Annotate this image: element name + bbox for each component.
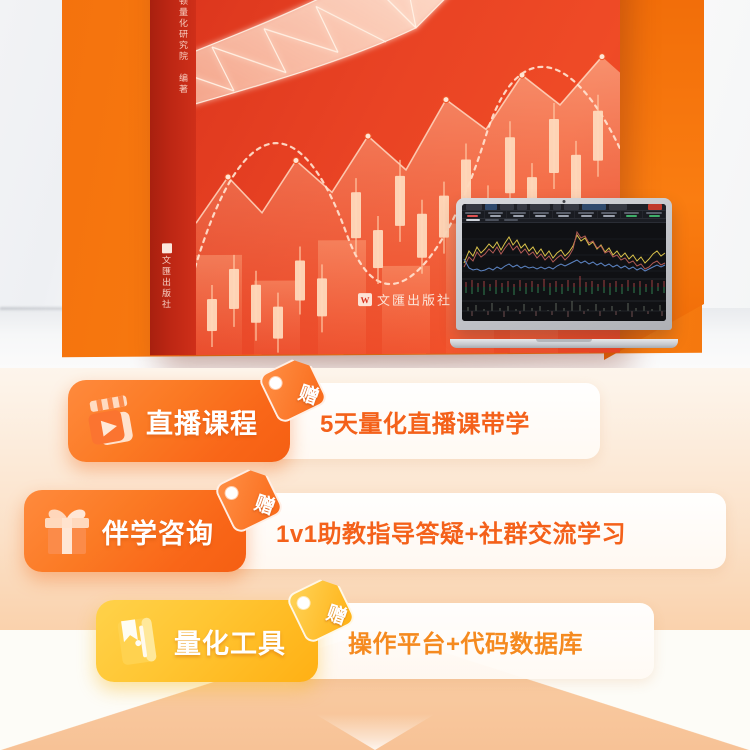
- laptop-screen: [462, 204, 666, 321]
- price-series-chart: [462, 223, 666, 321]
- publisher-mark-icon: W: [358, 293, 372, 306]
- stat-cell: [643, 211, 666, 218]
- benefit-pill-label: 伴学咨询: [102, 512, 214, 551]
- terminal-tab[interactable]: [504, 219, 518, 221]
- benefit-description-text: 操作平台+代码数据库: [348, 624, 583, 659]
- terminal-stats-bar: [462, 211, 666, 219]
- toolbar-chip[interactable]: [500, 204, 514, 210]
- publisher-logo: W 文匯出版社: [358, 290, 452, 310]
- stat-cell: [462, 211, 485, 218]
- book-spine-publisher: 文匯出版社: [160, 255, 173, 310]
- toolbar-chip[interactable]: [466, 204, 482, 210]
- terminal-chart-area: [462, 223, 666, 321]
- benefit-pill-label: 量化工具: [174, 622, 286, 661]
- stat-cell: [553, 211, 576, 218]
- product-hero: 高顿量化研究院 编著 文匯出版社 高顿量化研究院 编著 W 文匯出版社: [0, 0, 750, 368]
- benefit-pill-label: 直播课程: [146, 402, 258, 441]
- toolbar-chip[interactable]: [564, 204, 579, 210]
- book-spine-title: 高顿量化研究院 编著: [156, 0, 190, 95]
- stat-cell: [621, 211, 644, 218]
- toolbar-chip[interactable]: [485, 204, 497, 210]
- terminal-tab[interactable]: [485, 219, 499, 221]
- bottom-notch-decoration: [315, 714, 435, 750]
- benefit-description-text: 5天量化直播课带学: [320, 404, 530, 439]
- benefit-description-text: 1v1助教指导答疑+社群交流学习: [276, 514, 626, 549]
- toolbar-chip[interactable]: [530, 204, 550, 210]
- toolbar-search-field[interactable]: [582, 204, 606, 210]
- toolbar-chip[interactable]: [553, 204, 561, 210]
- toolbar-chip[interactable]: [517, 204, 527, 210]
- terminal-tab[interactable]: [466, 219, 480, 221]
- toolbar-chip[interactable]: [609, 204, 627, 210]
- stat-cell: [485, 211, 508, 218]
- product-promo-banner: 高顿量化研究院 编著 文匯出版社 高顿量化研究院 编著 W 文匯出版社: [0, 0, 750, 750]
- stat-cell: [575, 211, 598, 218]
- publisher-mark-icon: [162, 243, 172, 253]
- benefit-pill-study-support[interactable]: 伴学咨询 赠: [24, 490, 246, 572]
- benefit-description-card: 1v1助教指导答疑+社群交流学习: [220, 493, 726, 569]
- stat-cell: [530, 211, 553, 218]
- benefits-list: 直播课程 赠 5天量化直播课带学: [0, 372, 750, 712]
- benefit-pill-live-course[interactable]: 直播课程 赠: [68, 380, 290, 462]
- publisher-name: 文匯出版社: [377, 290, 452, 309]
- benefit-row-study-support[interactable]: 伴学咨询 赠 1v1助教指导答疑+社群交流学习: [0, 490, 750, 572]
- laptop-base: [450, 339, 678, 348]
- benefit-pill-quant-tools[interactable]: 量化工具 赠: [96, 600, 318, 682]
- notebook-icon: [108, 610, 170, 672]
- toolbar-alert-button[interactable]: [648, 204, 662, 210]
- webcam-icon: [563, 200, 566, 203]
- laptop-base-notch: [536, 339, 592, 342]
- terminal-toolbar: [462, 204, 666, 211]
- stat-cell: [507, 211, 530, 218]
- gift-box-icon: [36, 500, 98, 562]
- stat-cell: [598, 211, 621, 218]
- laptop-lid: [456, 198, 672, 330]
- benefit-row-quant-tools[interactable]: 量化工具 赠 操作平台+代码数据库: [0, 600, 750, 682]
- laptop-mockup: [450, 198, 678, 348]
- benefit-row-live-course[interactable]: 直播课程 赠 5天量化直播课带学: [0, 380, 750, 462]
- live-stream-icon: [80, 390, 142, 452]
- book-spine: 高顿量化研究院 编著 文匯出版社: [150, 0, 196, 355]
